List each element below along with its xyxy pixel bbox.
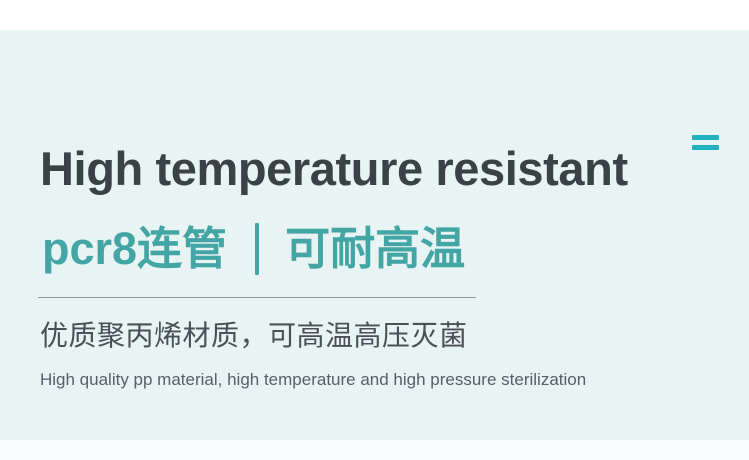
headline-divider-bar <box>255 223 259 275</box>
product-banner: High temperature resistant pcr8连管 可耐高温 优… <box>0 0 749 460</box>
bottom-white-band <box>0 440 749 460</box>
headline-chinese-main: pcr8连管 <box>42 218 227 280</box>
equals-mark-icon <box>692 135 719 153</box>
headline-chinese-sub: 可耐高温 <box>285 218 465 280</box>
subheadline-chinese: 优质聚丙烯材质，可高温高压灭菌 <box>40 317 468 355</box>
subheadline-english: High quality pp material, high temperatu… <box>40 368 586 392</box>
equals-bar-bottom <box>692 145 719 150</box>
top-white-band <box>0 0 749 30</box>
headline-english: High temperature resistant <box>40 140 628 198</box>
equals-bar-top <box>692 135 719 140</box>
headline-chinese-row: pcr8连管 可耐高温 <box>42 218 465 280</box>
horizontal-rule <box>38 297 476 298</box>
